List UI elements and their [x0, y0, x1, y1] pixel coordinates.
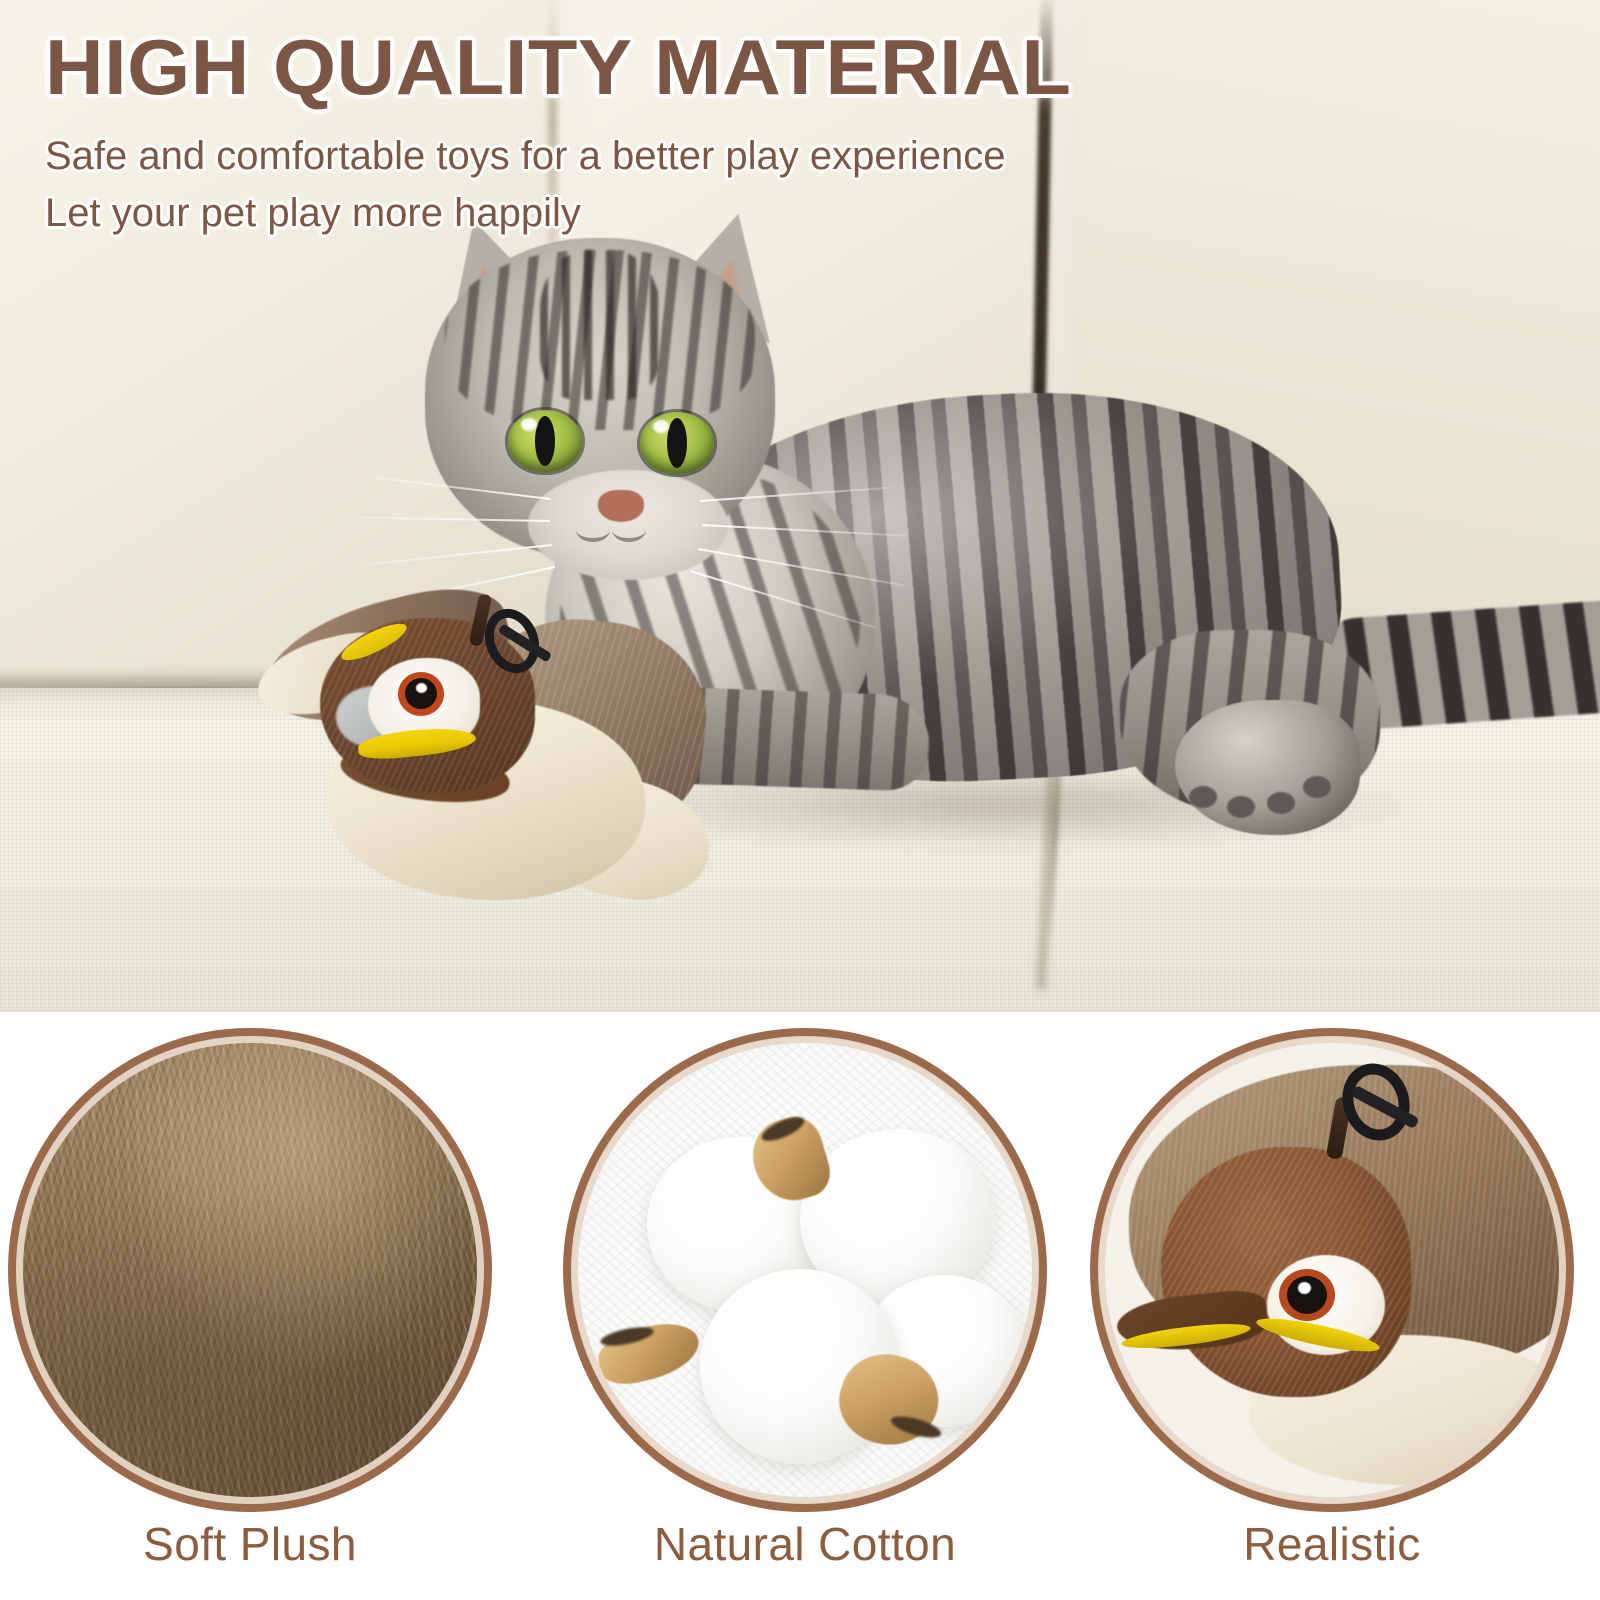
- hero-photo: HIGH QUALITY MATERIAL Safe and comfortab…: [0, 0, 1600, 1012]
- cat-whisker: [363, 544, 552, 566]
- cat-toe-pad: [1227, 796, 1255, 818]
- cat-mouth-left: [576, 518, 610, 542]
- feature-label-realistic: Realistic: [1082, 1517, 1582, 1571]
- cat-toe-pad: [1267, 792, 1295, 814]
- cat-eye-glint-left: [521, 418, 537, 431]
- subtitle-line-1: Safe and comfortable toys for a better p…: [45, 128, 1245, 185]
- feature-label-natural-cotton: Natural Cotton: [555, 1517, 1055, 1571]
- closeup-eye-glint: [1298, 1282, 1311, 1294]
- cat-forehead-marking: [540, 250, 660, 400]
- cat-mouth-right: [612, 518, 646, 542]
- feature-image-circle: [563, 1028, 1047, 1512]
- subtitle-block: Safe and comfortable toys for a better p…: [45, 128, 1245, 242]
- cat-toe-pad: [1189, 786, 1217, 808]
- plush-bird-toy: [250, 580, 700, 980]
- header-text-block: HIGH QUALITY MATERIAL Safe and comfortab…: [45, 28, 1245, 242]
- bird-closeup-photo: [1099, 1037, 1565, 1503]
- feature-section: Soft Plush Natural Cotton: [0, 1012, 1600, 1600]
- cat-pupil-right: [667, 418, 687, 468]
- feature-image-circle: [1090, 1028, 1574, 1512]
- page-title: HIGH QUALITY MATERIAL: [45, 28, 1293, 106]
- feature-label-soft-plush: Soft Plush: [0, 1517, 500, 1571]
- feature-image-circle: [8, 1028, 492, 1512]
- fur-sheen: [17, 1037, 483, 1503]
- plush-fur-photo: [17, 1037, 483, 1503]
- cat-hind-paw: [1175, 700, 1360, 835]
- subtitle-line-2: Let your pet play more happily: [45, 185, 1245, 242]
- cat-eye-glint-right: [653, 420, 669, 433]
- cat-pupil-left: [535, 416, 555, 466]
- cat-toe-pad: [1303, 776, 1331, 798]
- cotton-photo: [572, 1037, 1038, 1503]
- toy-eye-glint: [416, 683, 427, 693]
